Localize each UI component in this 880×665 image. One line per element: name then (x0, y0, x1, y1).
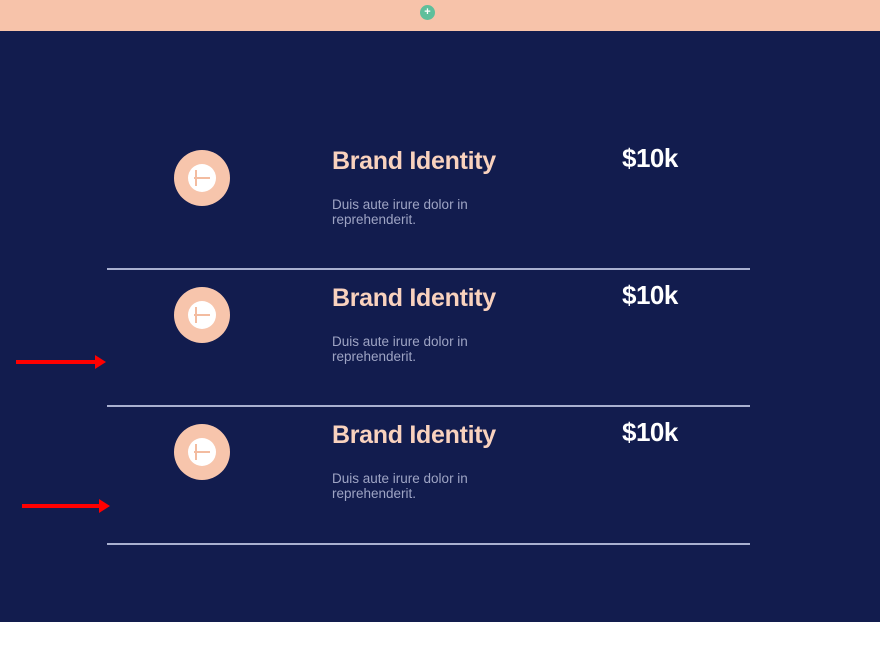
pricing-row-title: Brand Identity (332, 421, 496, 450)
plus-icon-vertical-bar (195, 444, 197, 460)
arrow-shaft (22, 504, 99, 508)
pricing-row-divider (107, 405, 750, 407)
pricing-row[interactable]: Brand Identity Duis aute irure dolor in … (0, 268, 880, 405)
pricing-row-title: Brand Identity (332, 147, 496, 176)
plus-circle-icon[interactable] (174, 150, 230, 206)
pricing-row-price: $10k (622, 280, 678, 311)
arrow-shaft (16, 360, 95, 364)
pricing-row-description: Duis aute irure dolor in reprehenderit. (332, 334, 522, 364)
add-section-icon[interactable]: + (420, 5, 435, 20)
plus-icon-vertical-bar (195, 307, 197, 323)
page-bottom-area (0, 622, 880, 665)
plus-circle-icon[interactable] (174, 287, 230, 343)
arrow-head (99, 499, 110, 513)
pricing-row-divider (107, 268, 750, 270)
pricing-row[interactable]: Brand Identity Duis aute irure dolor in … (0, 405, 880, 542)
pricing-section: Brand Identity Duis aute irure dolor in … (0, 31, 880, 622)
plus-icon-inner-circle (188, 438, 216, 466)
plus-circle-icon[interactable] (174, 424, 230, 480)
pricing-row-price: $10k (622, 143, 678, 174)
plus-icon-inner-circle (188, 301, 216, 329)
top-banner (0, 0, 880, 31)
arrow-head (95, 355, 106, 369)
pricing-row[interactable]: Brand Identity Duis aute irure dolor in … (0, 131, 880, 268)
pricing-row-divider (107, 543, 750, 545)
pricing-row-description: Duis aute irure dolor in reprehenderit. (332, 471, 522, 501)
plus-icon-inner-circle (188, 164, 216, 192)
annotation-arrow-row-2 (16, 355, 106, 369)
pricing-row-description: Duis aute irure dolor in reprehenderit. (332, 197, 522, 227)
plus-icon-vertical-bar (195, 170, 197, 186)
pricing-row-price: $10k (622, 417, 678, 448)
annotation-arrow-row-3 (22, 499, 110, 513)
pricing-row-title: Brand Identity (332, 284, 496, 313)
